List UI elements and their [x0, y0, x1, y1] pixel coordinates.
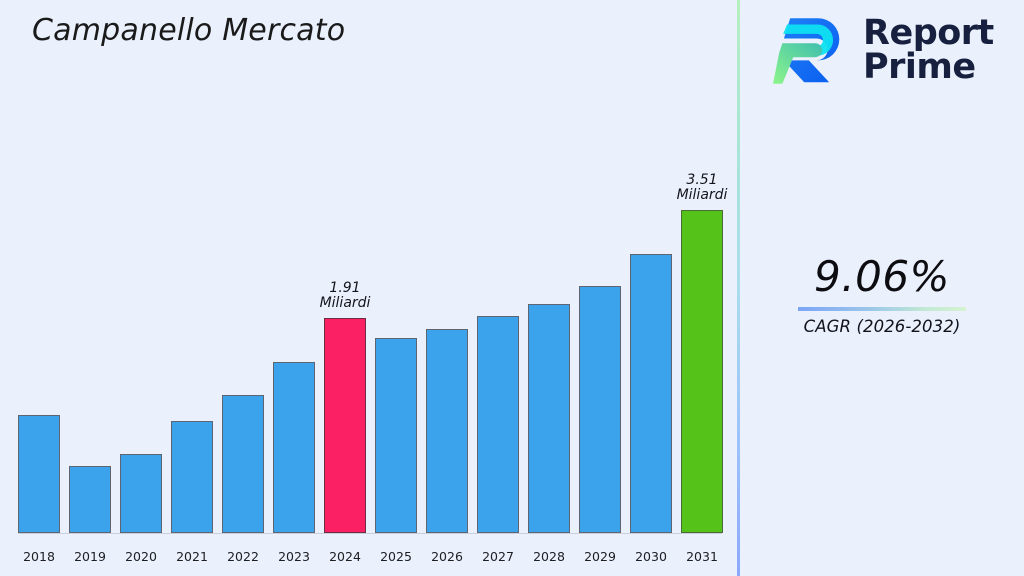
brand-wordmark-line2: Prime — [863, 51, 994, 85]
x-tick-2028: 2028 — [528, 549, 570, 564]
bar-value-label-2024: 1.91Miliardi — [320, 281, 371, 312]
cagr-block: 9.06% CAGR (2026-2032) — [740, 255, 1024, 336]
bar-2022[interactable] — [222, 395, 264, 533]
x-tick-2025: 2025 — [375, 549, 417, 564]
cagr-label: CAGR (2026-2032) — [740, 317, 1024, 336]
bar-value-number: 3.51 — [677, 173, 728, 189]
bar-value-number: 1.91 — [320, 281, 371, 297]
x-axis-tick-labels: 2018201920202021202220232024202520262027… — [18, 549, 722, 564]
bar-value-unit: Miliardi — [677, 188, 728, 204]
cagr-value: 9.06% — [740, 255, 1024, 299]
x-tick-2018: 2018 — [18, 549, 60, 564]
bar-value-label-2031: 3.51Miliardi — [677, 173, 728, 204]
x-tick-2024: 2024 — [324, 549, 366, 564]
bar-2025[interactable] — [375, 338, 417, 533]
x-tick-2027: 2027 — [477, 549, 519, 564]
chart-page: Campanello Mercato 1.91Miliardi3.51Milia… — [0, 0, 1024, 576]
bar-2026[interactable] — [426, 329, 468, 533]
x-tick-2023: 2023 — [273, 549, 315, 564]
bar-2031[interactable] — [681, 210, 723, 533]
x-axis-baseline — [18, 533, 722, 534]
x-tick-2031: 2031 — [681, 549, 723, 564]
x-tick-2030: 2030 — [630, 549, 672, 564]
bar-slot: 1.91Miliardi — [324, 93, 366, 533]
x-tick-2029: 2029 — [579, 549, 621, 564]
brand-wordmark-line1: Report — [863, 17, 994, 51]
bar-slot — [375, 93, 417, 533]
x-tick-2026: 2026 — [426, 549, 468, 564]
bar-slot — [426, 93, 468, 533]
bar-2020[interactable] — [120, 454, 162, 533]
x-tick-2021: 2021 — [171, 549, 213, 564]
bar-2030[interactable] — [630, 254, 672, 533]
cagr-divider-rule — [798, 307, 966, 311]
bar-slot — [630, 93, 672, 533]
bar-series: 1.91Miliardi3.51Miliardi — [18, 93, 722, 533]
bar-2021[interactable] — [171, 421, 213, 533]
bar-slot — [120, 93, 162, 533]
bar-slot — [171, 93, 213, 533]
bar-2024[interactable] — [324, 318, 366, 533]
bar-value-unit: Miliardi — [320, 296, 371, 312]
bar-slot — [69, 93, 111, 533]
report-prime-logo-mark-icon — [773, 12, 851, 90]
bar-slot — [579, 93, 621, 533]
bar-2019[interactable] — [69, 466, 111, 533]
bar-slot — [528, 93, 570, 533]
bar-slot — [477, 93, 519, 533]
plot-area: 1.91Miliardi3.51Miliardi — [18, 93, 722, 533]
bar-2028[interactable] — [528, 304, 570, 533]
bar-2018[interactable] — [18, 415, 60, 533]
x-tick-2020: 2020 — [120, 549, 162, 564]
bar-slot — [18, 93, 60, 533]
bar-2029[interactable] — [579, 286, 621, 533]
bar-slot — [222, 93, 264, 533]
page-title: Campanello Mercato — [32, 13, 345, 48]
sidebar: Report Prime 9.06% CAGR (2026-2032) — [740, 0, 1024, 576]
chart-region: Campanello Mercato 1.91Miliardi3.51Milia… — [0, 0, 738, 576]
bar-2027[interactable] — [477, 316, 519, 533]
x-tick-2022: 2022 — [222, 549, 264, 564]
bar-slot: 3.51Miliardi — [681, 93, 723, 533]
brand-wordmark: Report Prime — [863, 17, 994, 85]
bar-2023[interactable] — [273, 362, 315, 533]
brand-logo: Report Prime — [773, 12, 994, 90]
x-tick-2019: 2019 — [69, 549, 111, 564]
bar-slot — [273, 93, 315, 533]
